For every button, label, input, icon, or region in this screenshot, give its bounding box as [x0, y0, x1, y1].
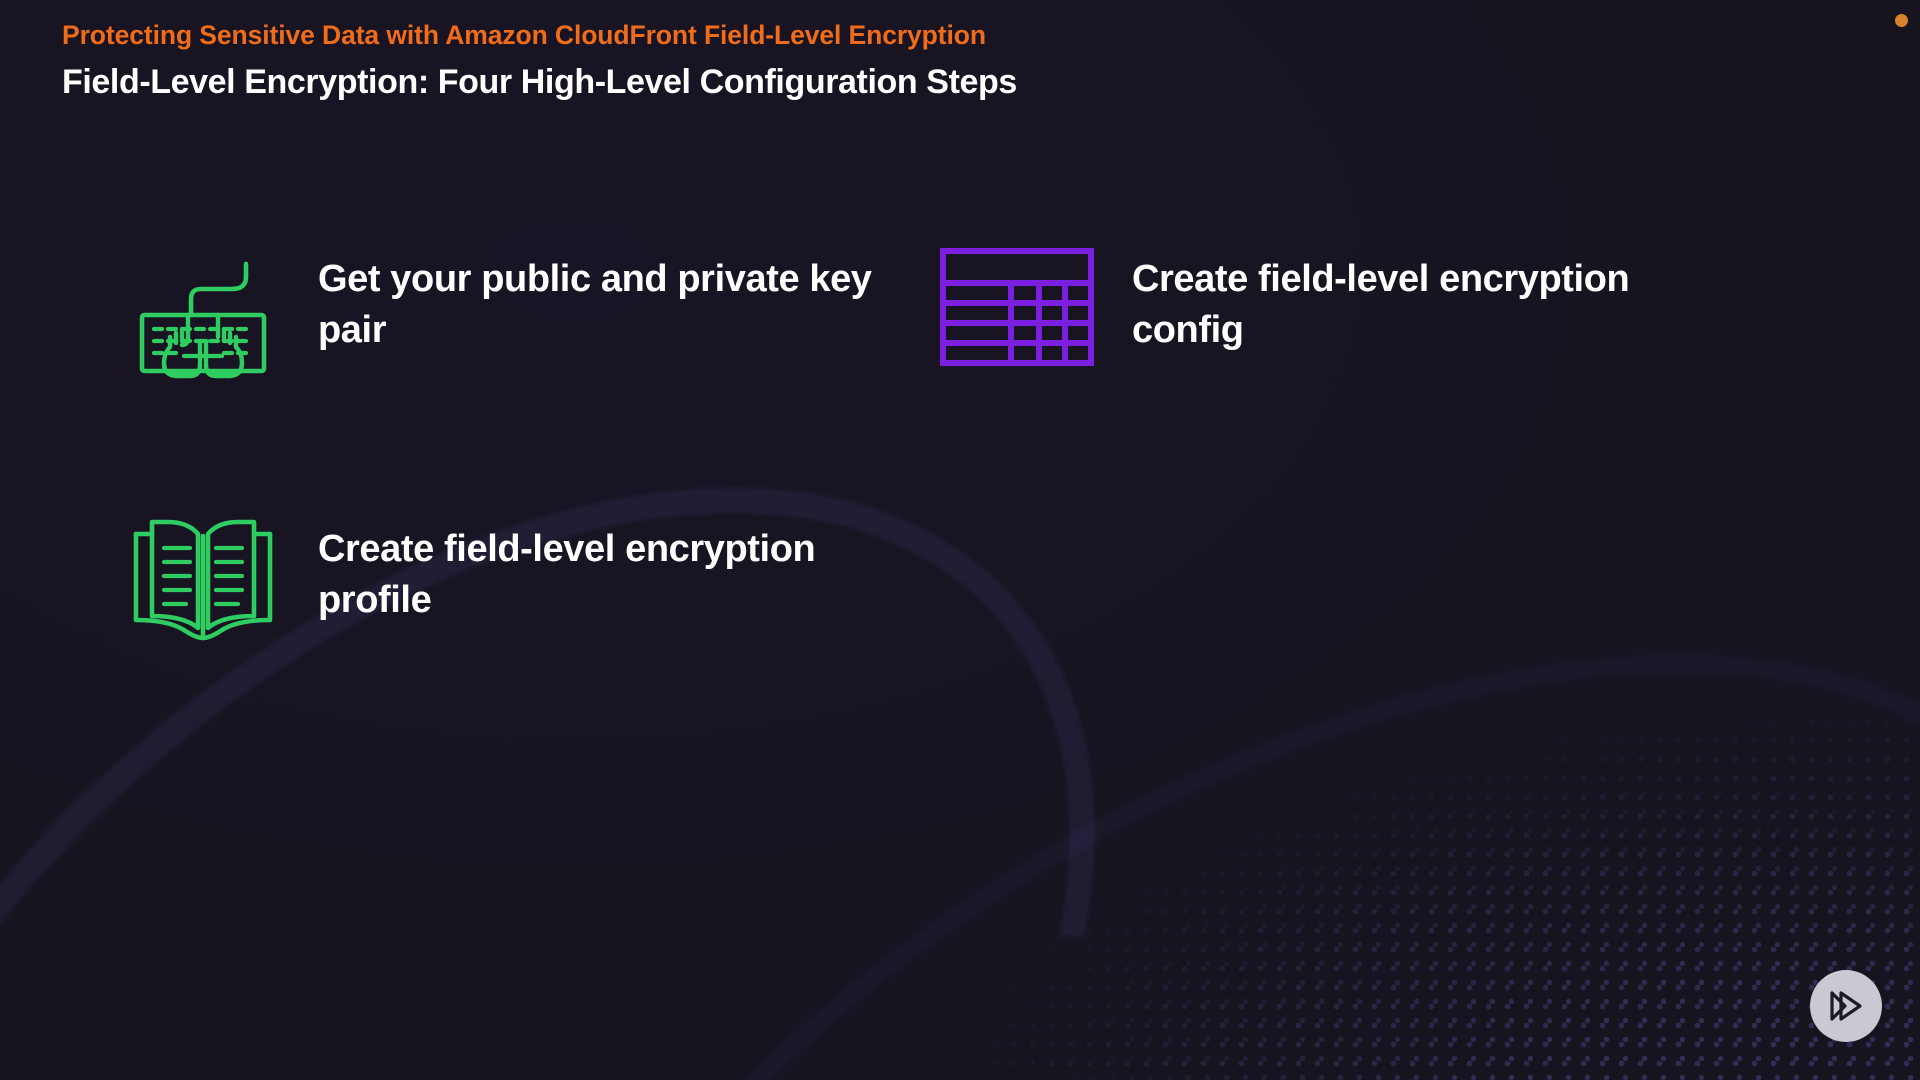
step-item: Get your public and private key pair: [122, 232, 912, 382]
step-label: Create field-level encryption config: [1132, 232, 1726, 356]
slide-canvas: Protecting Sensitive Data with Amazon Cl…: [0, 0, 1920, 1080]
page-title: Field-Level Encryption: Four High-Level …: [62, 62, 1762, 103]
step-item: Create field-level encryption profile: [122, 502, 912, 652]
keyboard-hands-icon: [122, 232, 284, 382]
step-label: Get your public and private key pair: [318, 232, 912, 356]
course-title-eyebrow: Protecting Sensitive Data with Amazon Cl…: [62, 20, 1762, 52]
step-item: Create field-level encryption config: [936, 232, 1726, 382]
double-play-triangle-icon[interactable]: [1810, 970, 1882, 1042]
steps-grid: Get your public and private key pair: [122, 232, 1782, 652]
background-halftone-dots-secondary: [980, 660, 1920, 1080]
corner-dot-icon: [1895, 14, 1908, 27]
step-label: Create field-level encryption profile: [318, 502, 912, 626]
open-book-icon: [122, 502, 284, 652]
slide-header: Protecting Sensitive Data with Amazon Cl…: [62, 20, 1762, 103]
table-grid-icon: [936, 232, 1098, 382]
